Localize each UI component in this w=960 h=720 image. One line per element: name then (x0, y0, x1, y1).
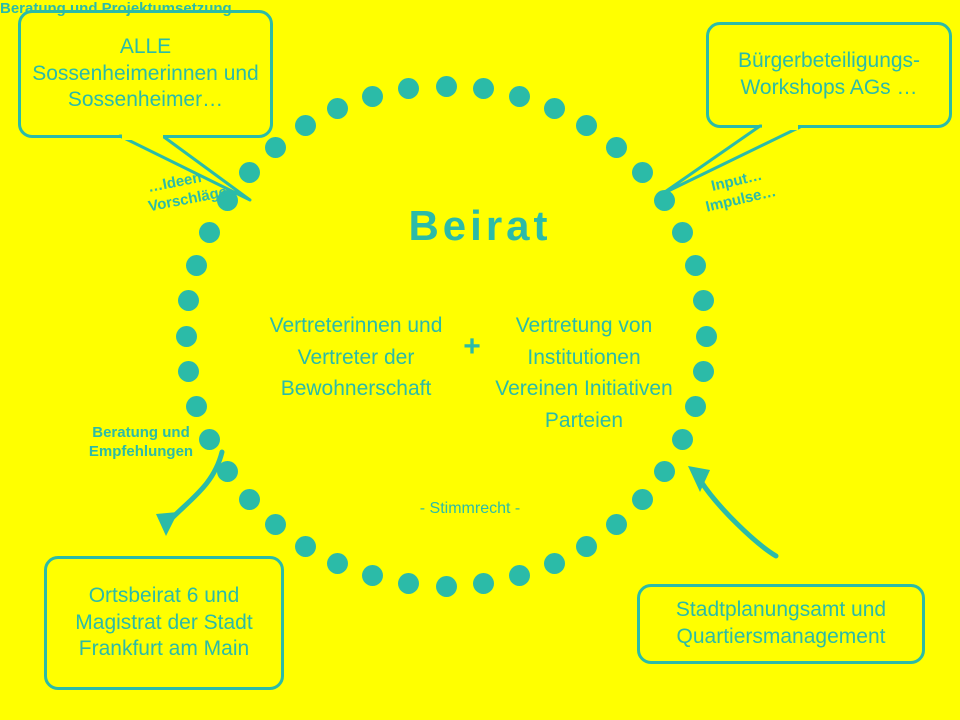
circle-dot (265, 514, 286, 535)
circle-dot (632, 162, 653, 183)
callout-box-buergerbeteiligung[interactable]: Bürgerbeteiligungs-Workshops AGs … (706, 22, 952, 128)
circle-dot (436, 76, 457, 97)
circle-dot (178, 290, 199, 311)
circle-dot (693, 290, 714, 311)
circle-dot (178, 361, 199, 382)
callout-box-buergerbeteiligung-label: Bürgerbeteiligungs-Workshops AGs … (719, 48, 939, 102)
circle-dot (398, 573, 419, 594)
callout-box-stadtplanungsamt[interactable]: Stadtplanungsamt und Quartiersmanagement (637, 584, 925, 664)
circle-dot (606, 137, 627, 158)
circle-dot (544, 98, 565, 119)
circle-dot (398, 78, 419, 99)
circle-dot (186, 396, 207, 417)
circle-dot (473, 573, 494, 594)
circle-dot (239, 489, 260, 510)
center-left-column: Vertreterinnen und Vertreter der Bewohne… (258, 310, 454, 405)
circle-dot (265, 137, 286, 158)
circle-dot (509, 565, 530, 586)
circle-dot (576, 115, 597, 136)
callout-box-stadtplanungsamt-label: Stadtplanungsamt und Quartiersmanagement (650, 597, 912, 651)
circle-dot (362, 86, 383, 107)
diagram-canvas: Beirat + Vertreterinnen und Vertreter de… (0, 0, 960, 720)
plus-icon: + (452, 330, 492, 364)
callout-box-alle-label: ALLE Sossenheimerinnen und Sossenheimer… (31, 34, 260, 115)
circle-dot (693, 361, 714, 382)
circle-dot (327, 98, 348, 119)
circle-dot (436, 576, 457, 597)
circle-dot (362, 565, 383, 586)
center-right-column: Vertretung von Institutionen Vereinen In… (492, 310, 676, 436)
circle-dot (685, 255, 706, 276)
circle-dot (654, 461, 675, 482)
circle-dot (295, 115, 316, 136)
circle-dot (176, 326, 197, 347)
circle-dot (544, 553, 565, 574)
center-footnote: - Stimmrecht - (330, 500, 610, 518)
callout-box-ortsbeirat[interactable]: Ortsbeirat 6 und Magistrat der Stadt Fra… (44, 556, 284, 690)
circle-dot (576, 536, 597, 557)
circle-dot (217, 461, 238, 482)
arrow-to-stadtplanungsamt (700, 480, 776, 556)
callout-box-ortsbeirat-label: Ortsbeirat 6 und Magistrat der Stadt Fra… (57, 583, 271, 664)
circle-dot (696, 326, 717, 347)
annotation-beratung-empfehlungen: Beratung und Empfehlungen (66, 424, 216, 462)
circle-dot (509, 86, 530, 107)
circle-dot (632, 489, 653, 510)
callout-box-alle[interactable]: ALLE Sossenheimerinnen und Sossenheimer… (18, 10, 273, 138)
circle-dot (327, 553, 348, 574)
circle-dot (295, 536, 316, 557)
circle-dot (473, 78, 494, 99)
circle-dot (186, 255, 207, 276)
annotation-beratung-projektumsetzung: Beratung und Projektumsetzung (0, 0, 232, 19)
circle-dot (685, 396, 706, 417)
